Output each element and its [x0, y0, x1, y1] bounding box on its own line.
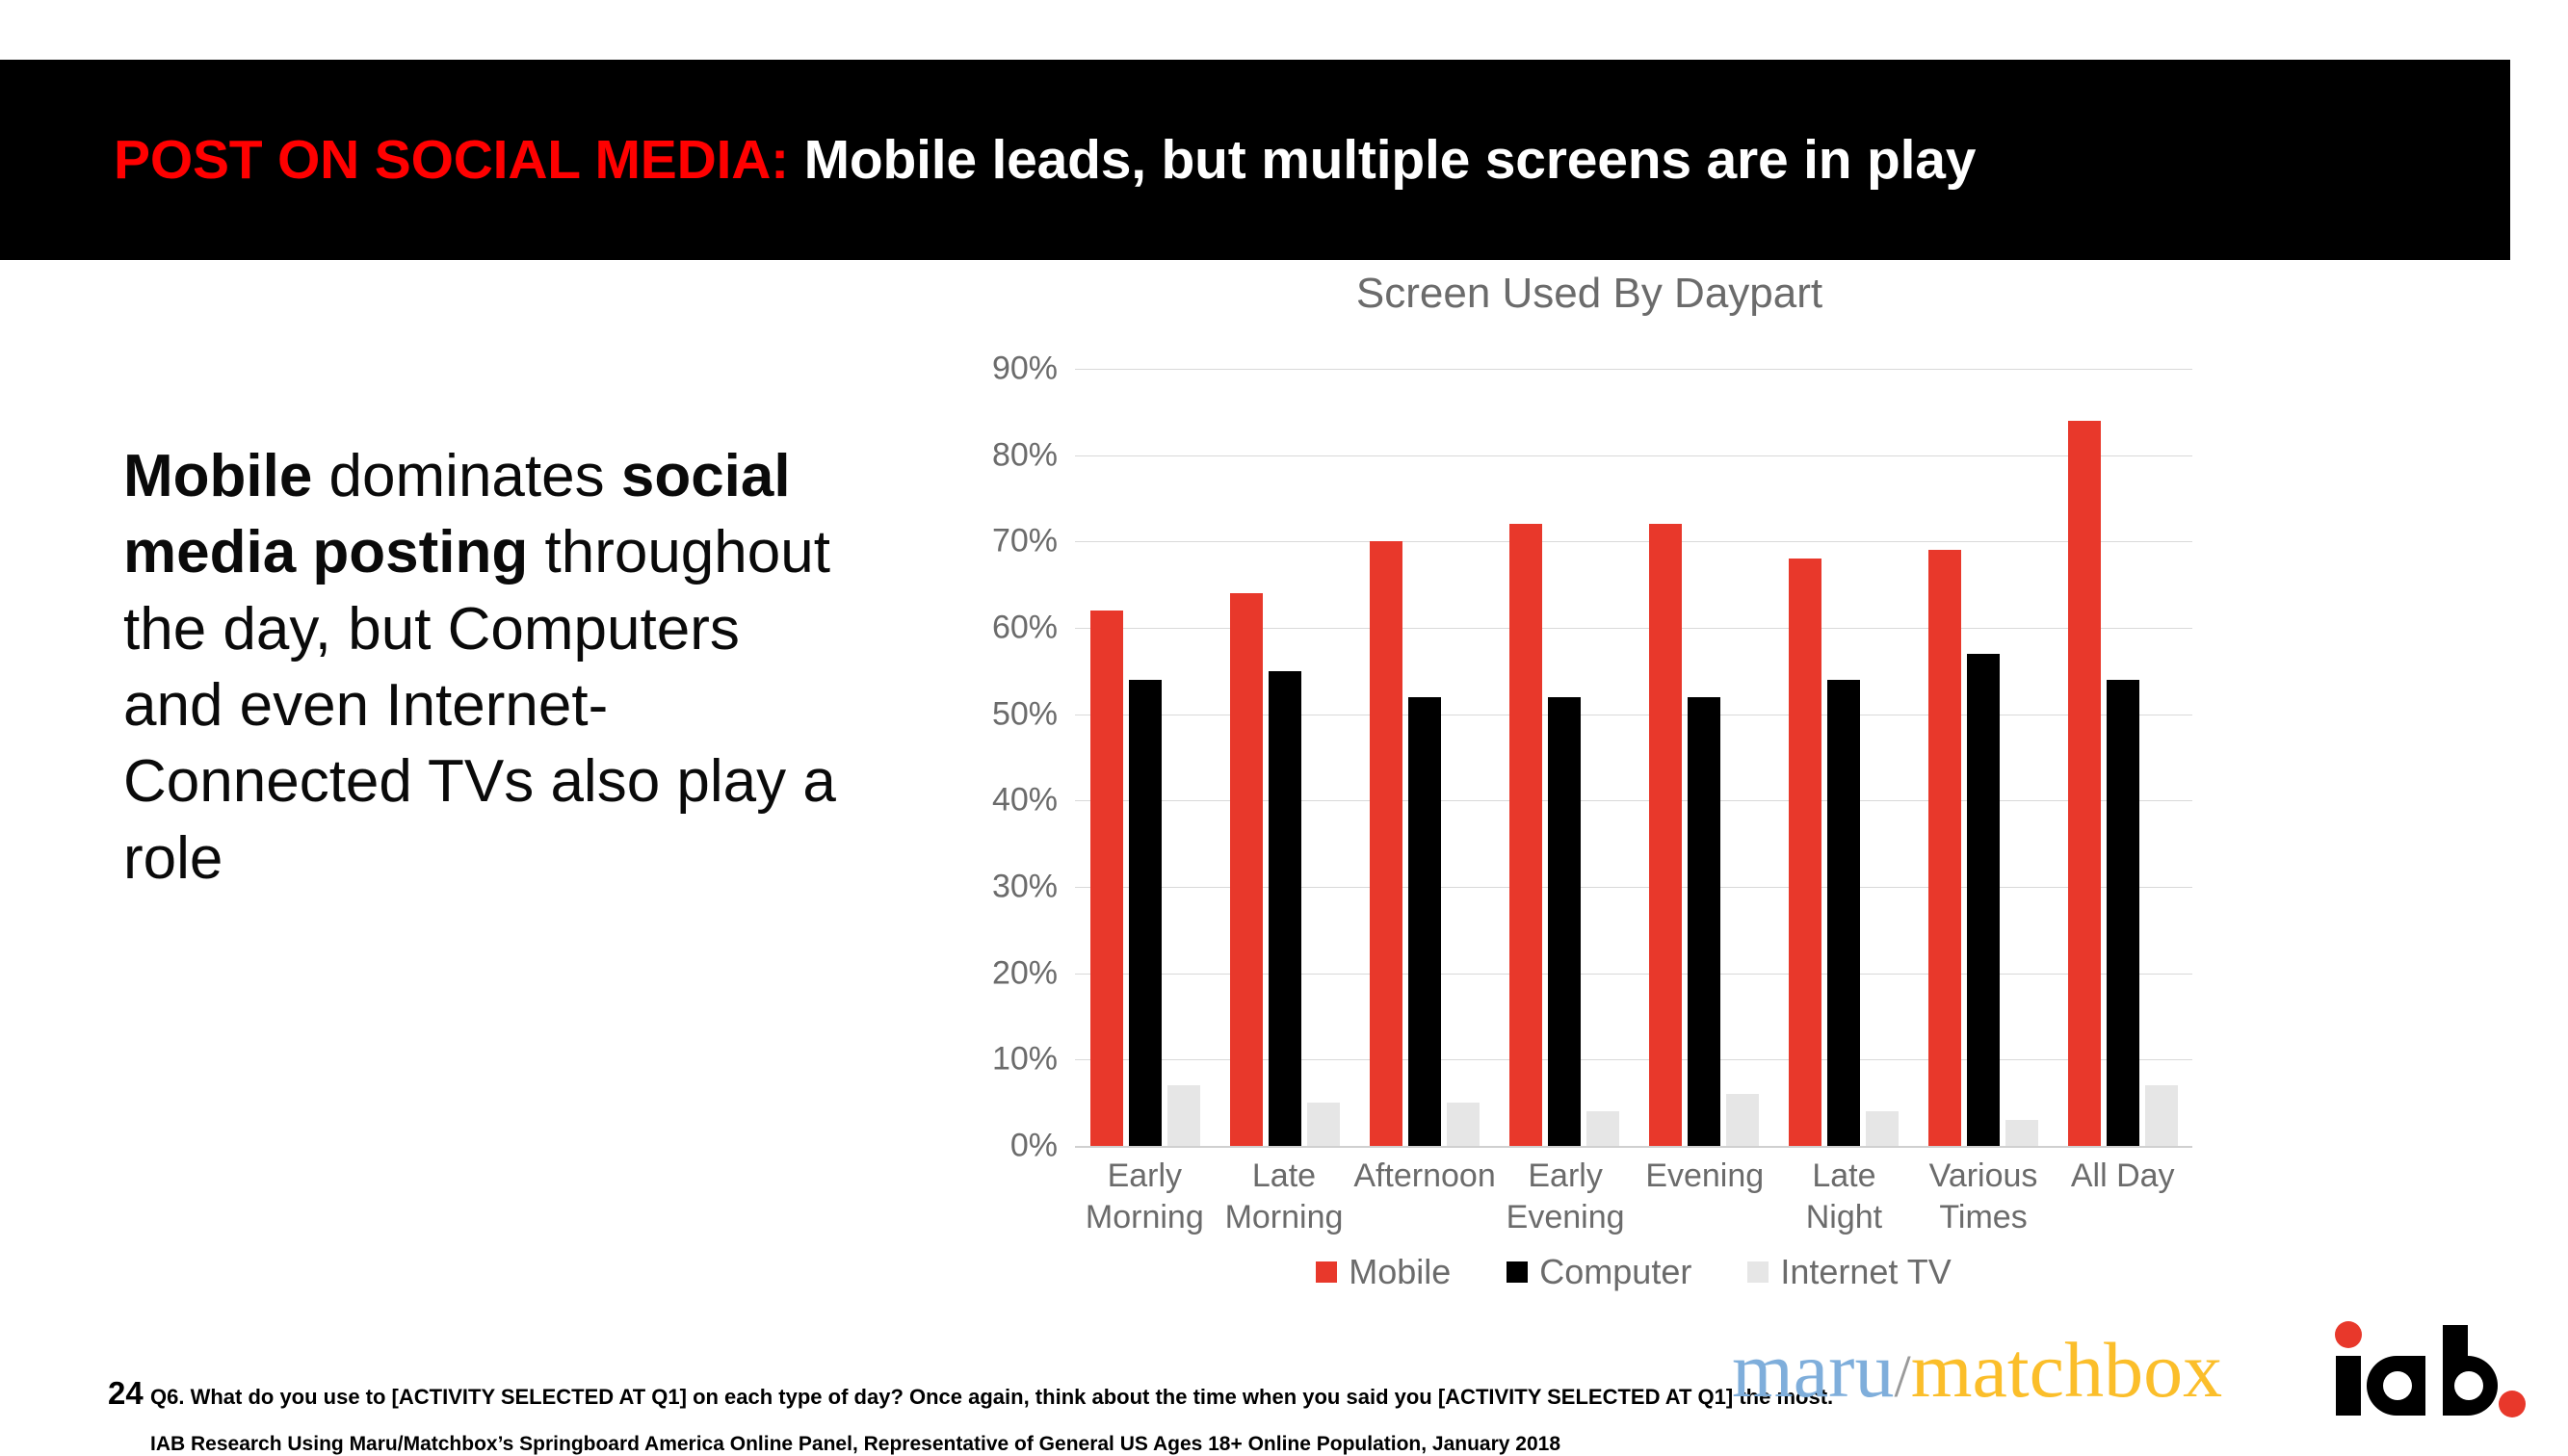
maru-matchbox-logo: maru/matchbox [1732, 1331, 2222, 1410]
y-axis-tick-label: 40% [884, 782, 1058, 819]
chart-legend: MobileComputerInternet TV [1075, 1252, 2192, 1292]
plot-bars [1075, 369, 2192, 1146]
matchbox-logo-text: matchbox [1911, 1326, 2222, 1414]
bar-computer[interactable] [1548, 697, 1581, 1146]
iab-logo [2329, 1319, 2531, 1425]
x-axis-tick-label: EarlyMorning [1075, 1156, 1215, 1237]
y-axis-tick-label: 50% [884, 695, 1058, 733]
legend-swatch-icon [1316, 1261, 1337, 1283]
y-axis-tick-label: 20% [884, 954, 1058, 992]
y-axis-tick-label: 80% [884, 436, 1058, 474]
y-axis-tick-label: 0% [884, 1128, 1058, 1165]
page-title-lead: POST ON SOCIAL MEDIA: [114, 129, 789, 191]
x-axis-labels: EarlyMorningLateMorningAfternoonEarlyEve… [1075, 1156, 2192, 1237]
bar-group [1354, 369, 1494, 1146]
iab-logo-period-icon [2499, 1391, 2526, 1417]
legend-swatch-icon [1747, 1261, 1769, 1283]
body-copy: Mobile dominates social media posting th… [123, 438, 855, 897]
legend-label: Computer [1539, 1252, 1691, 1292]
title-banner: POST ON SOCIAL MEDIA: Mobile leads, but … [0, 60, 2510, 260]
x-axis-tick-label: Late Night [1774, 1156, 1914, 1237]
bar-computer[interactable] [1827, 680, 1860, 1146]
bar-chart: Screen Used By Daypart 90%80%70%60%50%40… [963, 270, 2466, 1339]
bar-group [1913, 369, 2053, 1146]
maru-logo-text: maru [1732, 1326, 1894, 1414]
iab-logo-svg [2329, 1319, 2531, 1425]
legend-item-internet-tv[interactable]: Internet TV [1747, 1252, 1951, 1292]
y-axis-tick-label: 90% [884, 351, 1058, 388]
x-axis-tick-label: EarlyEvening [1496, 1156, 1636, 1237]
legend-item-mobile[interactable]: Mobile [1316, 1252, 1451, 1292]
bar-mobile[interactable] [1090, 611, 1123, 1146]
bar-internet-tv[interactable] [1726, 1094, 1759, 1146]
y-axis-tick-label: 60% [884, 610, 1058, 647]
body-copy-bold-1: Mobile [123, 443, 312, 509]
x-axis-tick-label: All Day [2053, 1156, 2192, 1237]
bar-internet-tv[interactable] [1167, 1085, 1200, 1146]
bar-internet-tv[interactable] [2005, 1120, 2038, 1146]
bar-mobile[interactable] [1509, 524, 1542, 1146]
legend-label: Mobile [1349, 1252, 1451, 1292]
bar-mobile[interactable] [1230, 593, 1263, 1146]
bar-computer[interactable] [2107, 680, 2139, 1146]
bar-internet-tv[interactable] [2145, 1085, 2178, 1146]
x-axis-tick-label: Afternoon [1353, 1156, 1495, 1237]
iab-letter-i [2336, 1356, 2361, 1416]
legend-swatch-icon [1507, 1261, 1528, 1283]
bar-group [1075, 369, 1215, 1146]
x-axis-tick-label: LateMorning [1215, 1156, 1354, 1237]
bar-group [1773, 369, 1913, 1146]
body-copy-text-1: dominates [312, 443, 621, 509]
bar-mobile[interactable] [2068, 421, 2101, 1146]
x-axis-line [1075, 1146, 2192, 1148]
page-title: POST ON SOCIAL MEDIA: Mobile leads, but … [0, 128, 1976, 192]
x-axis-tick-label: VariousTimes [1914, 1156, 2054, 1237]
bar-group [2053, 369, 2192, 1146]
y-axis-tick-label: 70% [884, 523, 1058, 560]
bar-internet-tv[interactable] [1307, 1103, 1340, 1146]
bar-mobile[interactable] [1370, 541, 1402, 1146]
bar-group [1634, 369, 1773, 1146]
iab-logo-dot-icon [2335, 1321, 2362, 1348]
bar-mobile[interactable] [1928, 550, 1961, 1146]
legend-label: Internet TV [1780, 1252, 1951, 1292]
x-axis-tick-label: Evening [1635, 1156, 1774, 1237]
bar-internet-tv[interactable] [1586, 1111, 1619, 1146]
bar-computer[interactable] [1688, 697, 1720, 1146]
bar-computer[interactable] [1269, 671, 1301, 1146]
y-axis-tick-label: 10% [884, 1041, 1058, 1079]
bar-computer[interactable] [1967, 654, 2000, 1146]
bar-mobile[interactable] [1649, 524, 1682, 1146]
chart-title: Screen Used By Daypart [963, 270, 2215, 318]
page-title-rest: Mobile leads, but multiple screens are i… [789, 129, 1976, 191]
page-number: 24 [108, 1375, 144, 1412]
y-axis-tick-label: 30% [884, 869, 1058, 906]
legend-item-computer[interactable]: Computer [1507, 1252, 1691, 1292]
bar-computer[interactable] [1129, 680, 1162, 1146]
bar-group [1494, 369, 1634, 1146]
footnote-source: IAB Research Using Maru/Matchbox’s Sprin… [150, 1433, 1560, 1456]
bar-computer[interactable] [1408, 697, 1441, 1146]
bar-internet-tv[interactable] [1866, 1111, 1899, 1146]
bar-internet-tv[interactable] [1447, 1103, 1480, 1146]
bar-mobile[interactable] [1789, 559, 1821, 1146]
logo-slash: / [1894, 1344, 1910, 1410]
footnote-question: Q6. What do you use to [ACTIVITY SELECTE… [150, 1385, 1833, 1410]
bar-group [1215, 369, 1354, 1146]
